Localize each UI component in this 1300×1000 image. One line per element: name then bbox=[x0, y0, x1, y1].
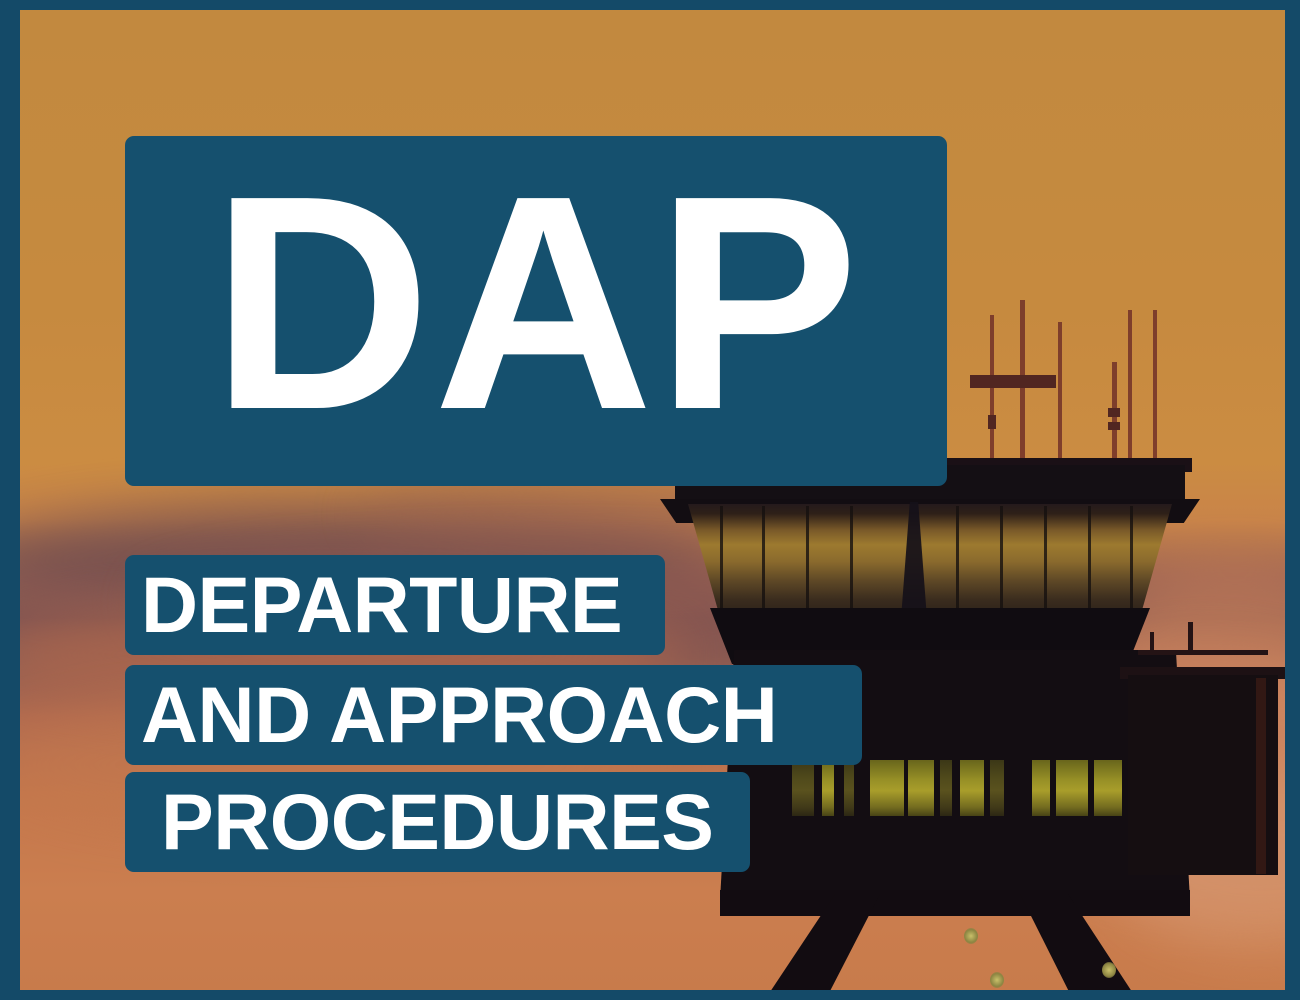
tower-base bbox=[720, 890, 1190, 916]
cab-glass bbox=[688, 504, 1172, 624]
window-pane bbox=[940, 760, 952, 816]
page-title: DAP bbox=[125, 136, 947, 486]
window-pane bbox=[1032, 760, 1050, 816]
window-pane bbox=[1056, 760, 1088, 816]
subtitle-line-2: AND APPROACH bbox=[125, 665, 862, 765]
cover-card: DAP DEPARTURE AND APPROACH PROCEDURES bbox=[0, 0, 1300, 1000]
antenna-mast bbox=[1128, 310, 1132, 475]
background-photo: DAP DEPARTURE AND APPROACH PROCEDURES bbox=[20, 10, 1285, 990]
cab-mullion bbox=[1130, 506, 1133, 622]
cab-mullion bbox=[956, 506, 959, 622]
annex-edge bbox=[1256, 678, 1266, 874]
cab-mullion bbox=[762, 506, 765, 622]
window-pane bbox=[908, 760, 934, 816]
cab-mullion bbox=[850, 506, 853, 622]
antenna-crossbar bbox=[970, 375, 1056, 388]
cab-mullion bbox=[806, 506, 809, 622]
window-pane bbox=[990, 760, 1004, 816]
subtitle-line-3: PROCEDURES bbox=[125, 772, 750, 872]
window-pane bbox=[960, 760, 984, 816]
cab-mullion bbox=[1000, 506, 1003, 622]
window-pane bbox=[792, 760, 814, 816]
antenna-node bbox=[1108, 422, 1120, 430]
window-pane bbox=[844, 760, 854, 816]
cab-mullion bbox=[720, 506, 723, 622]
window-pane bbox=[870, 760, 904, 816]
antenna-mast bbox=[1153, 310, 1157, 475]
antenna-node bbox=[1108, 408, 1120, 417]
cab-mullion bbox=[1044, 506, 1047, 622]
antenna-mast bbox=[1058, 322, 1062, 475]
window-pane bbox=[1094, 760, 1122, 816]
apron-light bbox=[990, 972, 1004, 988]
annex-railing bbox=[1138, 650, 1268, 655]
apron-light bbox=[964, 928, 978, 944]
annex-railing-post bbox=[1188, 622, 1193, 654]
antenna-mast bbox=[990, 315, 994, 475]
antenna-node bbox=[988, 415, 996, 429]
subtitle-line-1: DEPARTURE bbox=[125, 555, 665, 655]
cab-mullion bbox=[1088, 506, 1091, 622]
annex-railing-post bbox=[1150, 632, 1154, 654]
window-pane bbox=[822, 760, 834, 816]
apron-light bbox=[1102, 962, 1116, 978]
lit-window-strip bbox=[792, 760, 1128, 816]
